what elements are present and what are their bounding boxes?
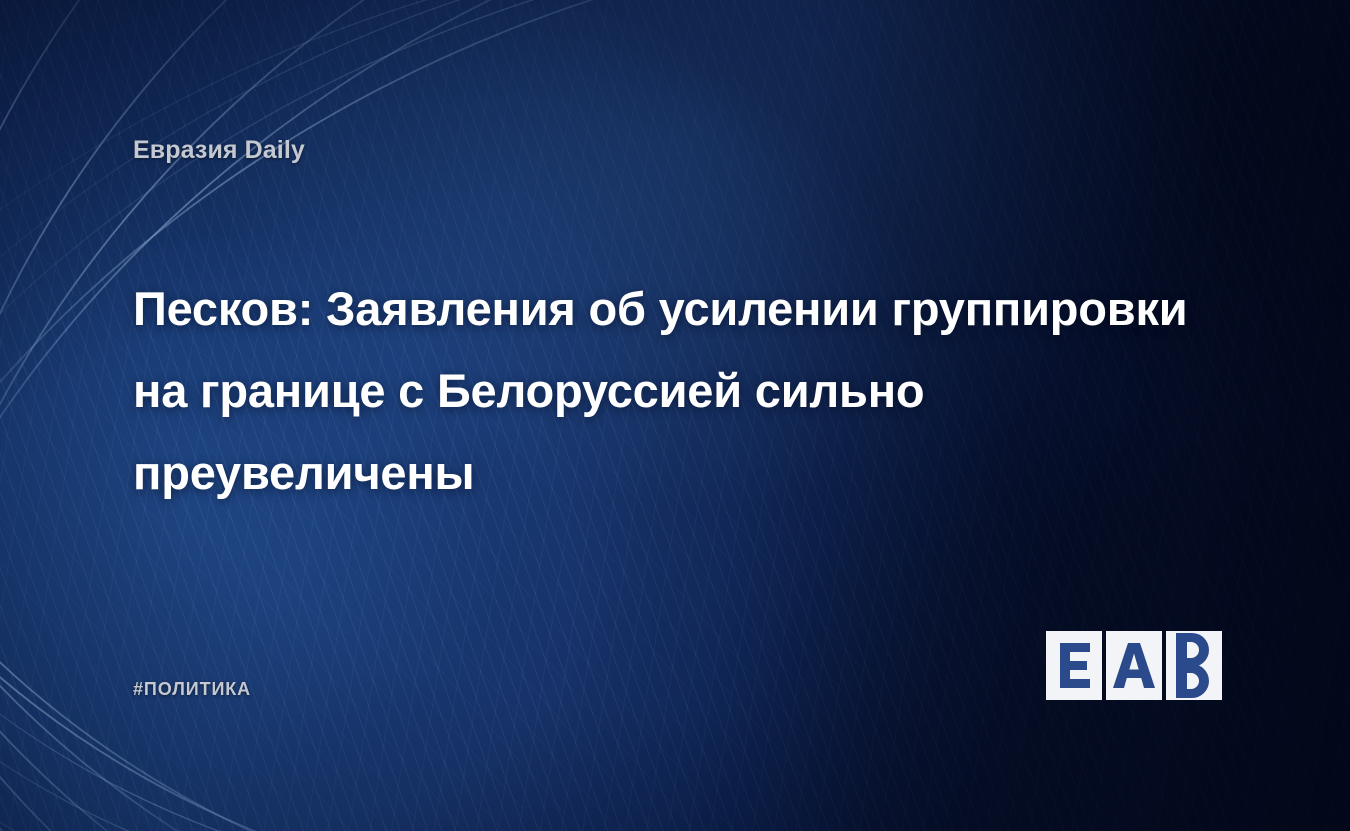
logo-tile-a bbox=[1106, 631, 1162, 700]
eadaily-logo bbox=[1046, 631, 1222, 700]
headline: Песков: Заявления об усилении группировк… bbox=[133, 268, 1208, 514]
category-tag-politics: #ПОЛИТИКА bbox=[133, 679, 251, 700]
logo-tile-dd bbox=[1166, 631, 1222, 700]
logo-tile-e bbox=[1046, 631, 1102, 700]
brand-name: Евразия Daily bbox=[133, 136, 305, 165]
news-card: Евразия Daily Песков: Заявления об усиле… bbox=[0, 0, 1350, 831]
